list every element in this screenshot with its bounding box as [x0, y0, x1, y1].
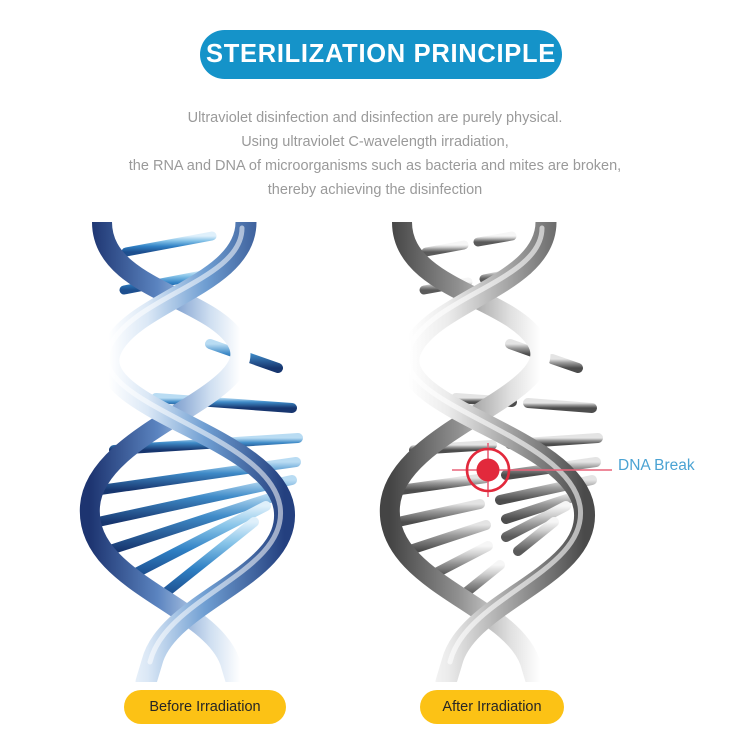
description-line-2: Using ultraviolet C-wavelength irradiati…: [0, 130, 750, 154]
after-irradiation-label: After Irradiation: [442, 700, 541, 715]
caption-pill-after-irradiation[interactable]: After Irradiation: [420, 690, 564, 724]
before-irradiation-label: Before Irradiation: [149, 700, 260, 715]
description-line-3: the RNA and DNA of microorganisms such a…: [0, 154, 750, 178]
page-title: STERILIZATION PRINCIPLE: [206, 42, 556, 68]
blue-dna-helix-illustration: [60, 222, 360, 682]
caption-pill-before-irradiation[interactable]: Before Irradiation: [124, 690, 286, 724]
description-paragraph: Ultraviolet disinfection and disinfectio…: [0, 106, 750, 202]
gray-dna-helix-illustration: [360, 222, 660, 682]
description-line-4: thereby achieving the disinfection: [0, 178, 750, 202]
page-title-badge: STERILIZATION PRINCIPLE: [200, 30, 562, 79]
sterilization-principle-infographic: STERILIZATION PRINCIPLE Ultraviolet disi…: [0, 0, 750, 750]
description-line-1: Ultraviolet disinfection and disinfectio…: [0, 106, 750, 130]
dna-comparison-figures: [0, 222, 750, 682]
